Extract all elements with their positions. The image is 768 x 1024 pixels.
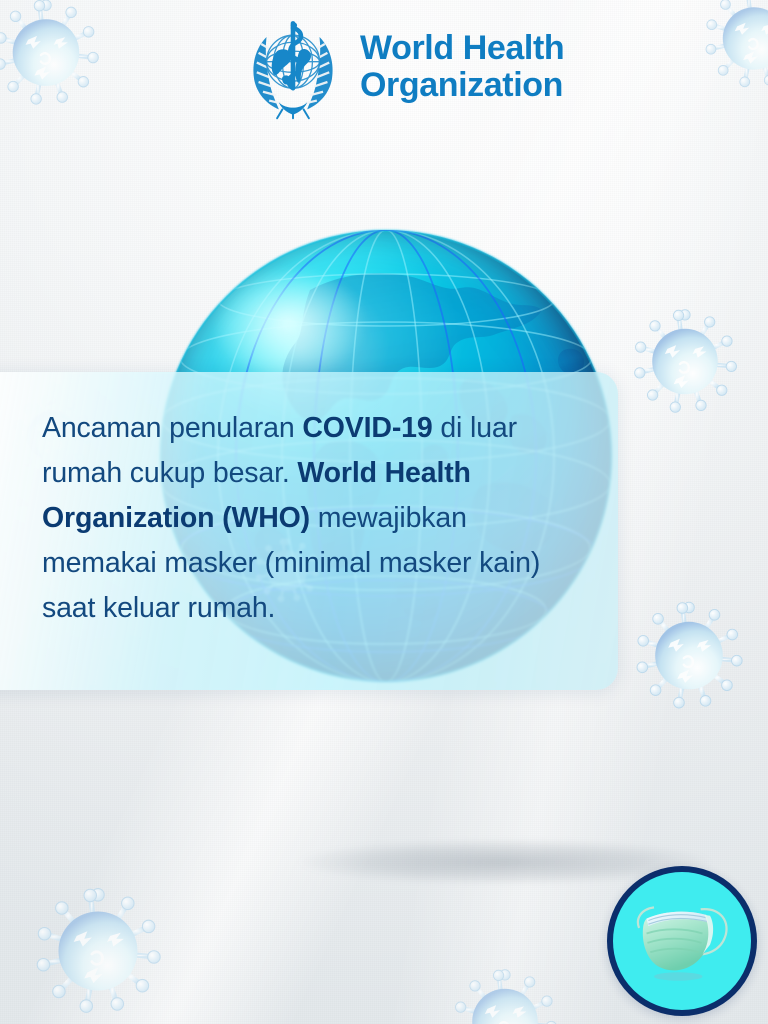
message-text-segment: Ancaman penularan (42, 412, 302, 444)
virus-particle-mid-right (622, 296, 748, 422)
message-text-emphasis: COVID-19 (302, 412, 432, 444)
face-mask-icon (626, 885, 738, 997)
who-emblem-icon (240, 14, 346, 120)
message-panel: Ancaman penularan COVID-19 di luar rumah… (0, 372, 618, 690)
who-logo: World Health Organization (240, 14, 564, 120)
virus-particle-top-left (0, 0, 110, 114)
virus-particle-bottom-left (22, 872, 174, 1024)
virus-particle-lower-right (624, 588, 754, 718)
poster-canvas: World Health Organization Ancaman penula… (0, 0, 768, 1024)
virus-particle-top-right (694, 0, 768, 96)
virus-particle-bottom-center (442, 956, 568, 1024)
face-mask-badge[interactable] (607, 866, 757, 1016)
message-text: Ancaman penularan COVID-19 di luar rumah… (42, 406, 556, 631)
who-wordmark: World Health Organization (360, 30, 564, 103)
